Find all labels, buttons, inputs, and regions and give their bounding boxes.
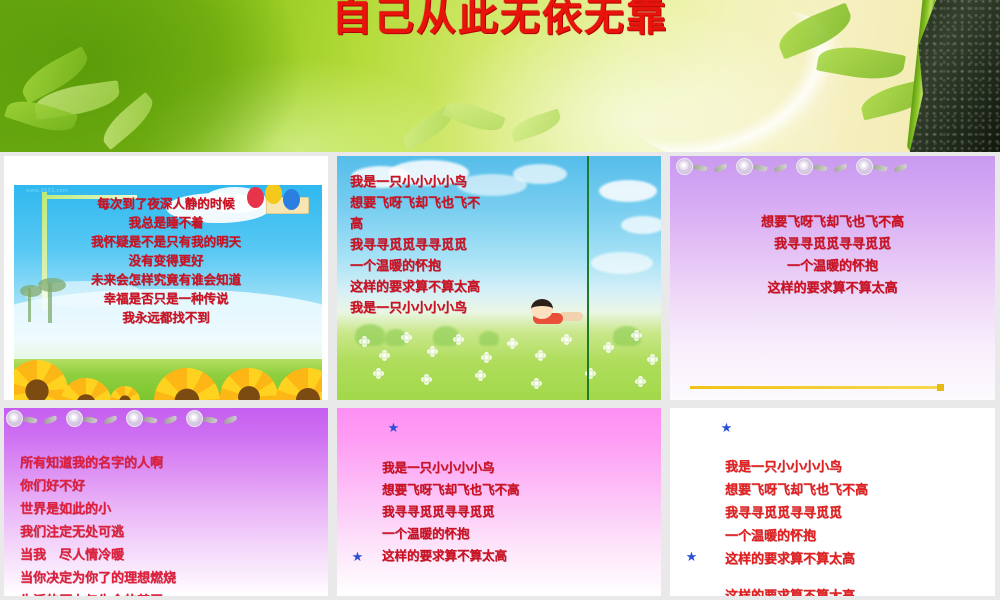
lyric-line: 一个温暖的怀抱 — [670, 256, 995, 278]
bush-icon — [355, 324, 385, 346]
lyric-line: 这样的要求算不算太高 — [350, 277, 661, 298]
lyric-line: 你们好不好 — [20, 475, 328, 498]
sunflower-icon — [14, 360, 68, 400]
sunflower-icon — [110, 386, 140, 400]
lyric-line: 这样的要求算不算太高 — [725, 548, 995, 571]
lyric-line: 这样的要求算不算太高 — [725, 585, 995, 596]
lyric-line: 没有变得更好 — [4, 251, 328, 270]
sunflower-icon — [154, 368, 220, 400]
slide-1[interactable]: www.3533.com — [4, 156, 328, 400]
lyric-line: 我是一只小小小小鸟 — [350, 172, 661, 193]
lyric-line: 这样的要求算不算太高 — [382, 545, 661, 567]
slide-3-lyrics: 想要飞呀飞却飞也飞不高 我寻寻觅觅寻寻觅觅 一个温暖的怀抱 这样的要求算不算太高 — [670, 212, 995, 300]
lyric-line: 我寻寻觅觅寻寻觅觅 — [725, 502, 995, 525]
lyric-line: 我总是睡不着 — [4, 213, 328, 232]
lyric-line: 想要飞呀飞却飞也飞不高 — [670, 212, 995, 234]
star-icon: ★ — [685, 551, 698, 564]
lyric-line: 我永远都找不到 — [4, 308, 328, 327]
gold-accent-line — [690, 386, 940, 389]
leaf-icon — [508, 108, 563, 142]
lyric-line: 幸福是否只是一种传说 — [4, 289, 328, 308]
slide-cell-3[interactable]: 想要飞呀飞却飞也飞不高 我寻寻觅觅寻寻觅觅 一个温暖的怀抱 这样的要求算不算太高 — [666, 152, 1000, 404]
lyric-line: 当你决定为你了的理想燃烧 — [20, 567, 328, 590]
lyric-line: 一个温暖的怀抱 — [350, 256, 661, 277]
lyric-line: 这样的要求算不算太高 — [670, 278, 995, 300]
sunflower-icon — [276, 368, 322, 400]
lyric-line: 高 — [350, 214, 661, 235]
lyric-line: 想要飞呀飞却飞也飞不 — [350, 193, 661, 214]
slide-cell-4[interactable]: 所有知道我的名字的人啊 你们好不好 世界是如此的小 我们注定无处可逃 当我 尽人… — [0, 404, 333, 600]
lyric-line: 我怀疑是不是只有我的明天 — [4, 232, 328, 251]
lyric-line: 世界是如此的小 — [20, 498, 328, 521]
slide-3[interactable]: 想要飞呀飞却飞也飞不高 我寻寻觅觅寻寻觅觅 一个温暖的怀抱 这样的要求算不算太高 — [670, 156, 995, 400]
lyric-line: 生活的压力与生命的尊严 — [20, 590, 328, 596]
star-icon: ★ — [720, 422, 733, 435]
lyric-line: 未来会怎样究竟有谁会知道 — [4, 270, 328, 289]
leaf-icon — [442, 96, 505, 138]
lyric-line: 当我 尽人情冷暖 — [20, 544, 328, 567]
header-banner: 自己从此无依无靠 — [0, 0, 1000, 152]
slide-5[interactable]: ★ ★ 我是一只小小小小鸟 想要飞呀飞却飞也飞不高 我寻寻觅觅寻寻觅觅 一个温暖… — [337, 408, 661, 596]
slide-6[interactable]: ★ ★ 我是一只小小小小鸟 想要飞呀飞却飞也飞不高 我寻寻觅觅寻寻觅觅 一个温暖… — [670, 408, 995, 596]
star-icon: ★ — [351, 551, 364, 564]
rose-border-band — [670, 156, 995, 182]
slide-4-lyrics: 所有知道我的名字的人啊 你们好不好 世界是如此的小 我们注定无处可逃 当我 尽人… — [20, 452, 328, 596]
lyric-line: 想要飞呀飞却飞也飞不高 — [382, 479, 661, 501]
slide-cell-6[interactable]: ★ ★ 我是一只小小小小鸟 想要飞呀飞却飞也飞不高 我寻寻觅觅寻寻觅觅 一个温暖… — [666, 404, 1000, 600]
lyric-spacer — [725, 571, 995, 585]
lyric-line: 所有知道我的名字的人啊 — [20, 452, 328, 475]
lyric-line: 每次到了夜深人静的时候 — [4, 194, 328, 213]
lyric-line: 我是一只小小小小鸟 — [725, 456, 995, 479]
lyric-line: 我寻寻觅觅寻寻觅觅 — [670, 234, 995, 256]
slide-cell-5[interactable]: ★ ★ 我是一只小小小小鸟 想要飞呀飞却飞也飞不高 我寻寻觅觅寻寻觅觅 一个温暖… — [333, 404, 666, 600]
lyric-line: 一个温暖的怀抱 — [382, 523, 661, 545]
page-title: 自己从此无依无靠 — [0, 0, 1000, 42]
slide-2[interactable]: 我是一只小小小小鸟 想要飞呀飞却飞也飞不 高 我寻寻觅觅寻寻觅觅 一个温暖的怀抱… — [337, 156, 661, 400]
lyric-line: 我寻寻觅觅寻寻觅觅 — [382, 501, 661, 523]
star-icon: ★ — [387, 422, 400, 435]
slide-2-lyrics: 我是一只小小小小鸟 想要飞呀飞却飞也飞不 高 我寻寻觅觅寻寻觅觅 一个温暖的怀抱… — [350, 172, 661, 319]
slide-cell-2[interactable]: 我是一只小小小小鸟 想要飞呀飞却飞也飞不 高 我寻寻觅觅寻寻觅觅 一个温暖的怀抱… — [333, 152, 666, 404]
lyric-line: 我是一只小小小小鸟 — [382, 457, 661, 479]
slide-cell-1[interactable]: www.3533.com — [0, 152, 333, 404]
sunflower-icon — [220, 368, 278, 400]
presentation-page: 自己从此无依无靠 www.3533.com — [0, 0, 1000, 600]
lyric-line: 一个温暖的怀抱 — [725, 525, 995, 548]
bush-icon — [479, 331, 499, 346]
slide-grid: www.3533.com — [0, 152, 1000, 600]
lyric-line: 我们注定无处可逃 — [20, 521, 328, 544]
sunflower-icon — [60, 378, 112, 400]
slide-1-lyrics: 每次到了夜深人静的时候 我总是睡不着 我怀疑是不是只有我的明天 没有变得更好 未… — [4, 194, 328, 327]
lyric-line: 我寻寻觅觅寻寻觅觅 — [350, 235, 661, 256]
rose-border-band — [4, 408, 328, 434]
slide-6-lyrics: 我是一只小小小小鸟 想要飞呀飞却飞也飞不高 我寻寻觅觅寻寻觅觅 一个温暖的怀抱 … — [725, 456, 995, 596]
slide-4[interactable]: 所有知道我的名字的人啊 你们好不好 世界是如此的小 我们注定无处可逃 当我 尽人… — [4, 408, 328, 596]
slide-5-lyrics: 我是一只小小小小鸟 想要飞呀飞却飞也飞不高 我寻寻觅觅寻寻觅觅 一个温暖的怀抱 … — [382, 457, 661, 567]
lyric-line: 我是一只小小小小鸟 — [350, 298, 661, 319]
lyric-line: 想要飞呀飞却飞也飞不高 — [725, 479, 995, 502]
